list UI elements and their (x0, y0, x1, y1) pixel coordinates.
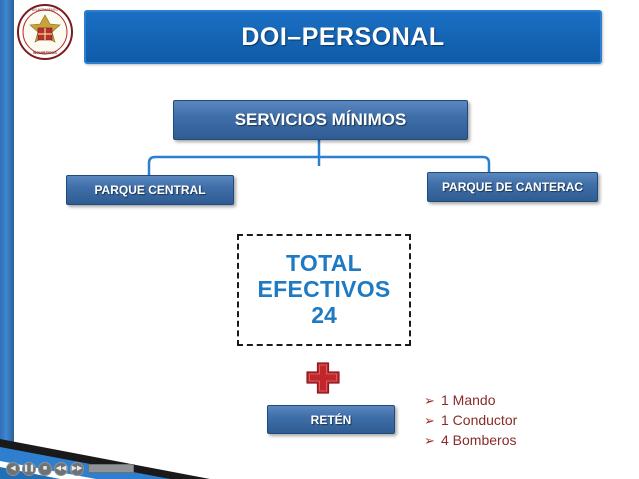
node-parque-de-canterac[interactable]: PARQUE DE CANTERAC (427, 172, 598, 202)
page-title: DOI–PERSONAL (241, 23, 444, 52)
left-accent-band (0, 0, 14, 479)
prev-button[interactable]: ◀◀ (54, 462, 68, 476)
total-label-line1: TOTAL (286, 251, 362, 277)
stop-button[interactable]: ■ (38, 462, 52, 476)
node-servicios-minimos[interactable]: SERVICIOS MÍNIMOS (173, 100, 468, 140)
total-label-line2: EFECTIVOS (257, 277, 390, 303)
previous-icon: ◀◀ (56, 465, 67, 472)
stop-icon: ■ (43, 465, 47, 472)
slide-title-banner: DOI–PERSONAL (84, 10, 602, 64)
node-servicios-minimos-label: SERVICIOS MÍNIMOS (235, 110, 407, 130)
logo-svg: AYUNTAMIENTO BOMBEROS (14, 2, 76, 62)
red-cross-icon (305, 361, 341, 395)
list-item: ➢ 1 Mando (424, 392, 624, 409)
progress-slider[interactable] (88, 464, 134, 473)
play-icon: ◀ (10, 465, 15, 472)
svg-text:BOMBEROS: BOMBEROS (33, 50, 57, 55)
arrow-bullet-icon: ➢ (424, 393, 441, 409)
total-value: 24 (311, 303, 337, 329)
svg-text:AYUNTAMIENTO: AYUNTAMIENTO (32, 8, 59, 12)
total-efectivos-box: TOTAL EFECTIVOS 24 (237, 234, 411, 346)
red-cross-svg (305, 361, 341, 395)
next-icon: ▶▶ (72, 465, 83, 472)
pause-button[interactable]: ❚❚ (22, 462, 36, 476)
node-parque-de-canterac-label: PARQUE DE CANTERAC (442, 180, 583, 194)
list-item-label: 1 Mando (441, 392, 495, 408)
bomberos-emblem-logo: AYUNTAMIENTO BOMBEROS (14, 2, 76, 62)
node-parque-central[interactable]: PARQUE CENTRAL (66, 175, 234, 205)
slide-canvas: AYUNTAMIENTO BOMBEROS DOI–PERSONAL SERVI… (0, 0, 639, 479)
pause-icon: ❚❚ (23, 465, 35, 472)
media-player-controls[interactable]: ◀ ❚❚ ■ ◀◀ ▶▶ (6, 462, 134, 475)
node-parque-central-label: PARQUE CENTRAL (94, 183, 205, 197)
next-button[interactable]: ▶▶ (70, 462, 84, 476)
play-button[interactable]: ◀ (6, 462, 20, 476)
